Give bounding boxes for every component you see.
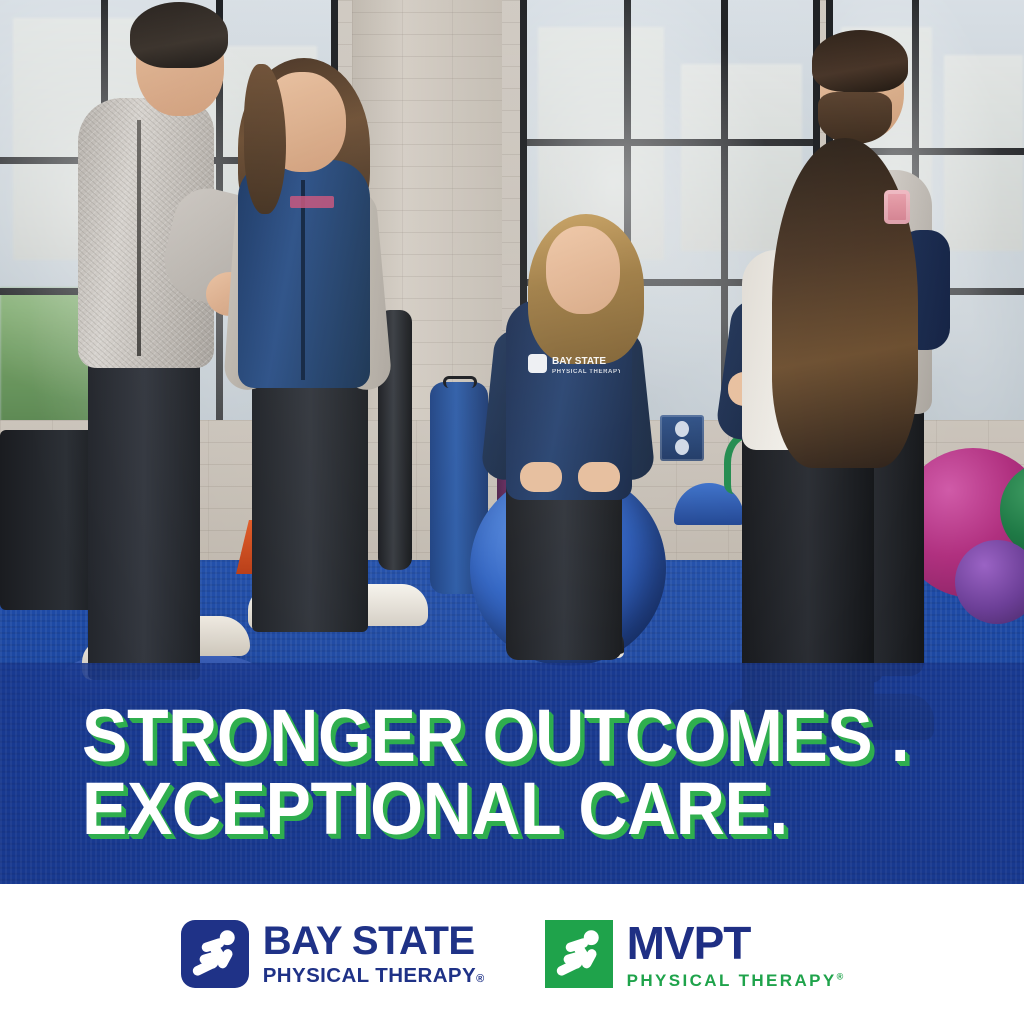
headline-line-2: EXCEPTIONAL CARE. [82, 773, 910, 844]
person-bearded-man-beard [818, 92, 892, 144]
person-woman-seated-shirt-logo: BAY STATE PHYSICAL THERAPY [528, 352, 620, 376]
person-bearded-man-hair [812, 30, 908, 92]
mvpt-name: MVPT [627, 920, 844, 966]
person-woman-dark-hair-clip [884, 190, 910, 224]
bay-state-name: BAY STATE [263, 921, 485, 961]
person-woman-dark-hair-hair [772, 138, 918, 468]
bay-state-runner-mark [181, 920, 249, 988]
runner-icon [545, 920, 613, 988]
bay-state-subtitle: PHYSICAL THERAPY® [263, 966, 485, 987]
poster-canvas: BAY STATE PHYSICAL THERAPY STRONGER OUTC… [0, 0, 1024, 1024]
bay-state-registered-mark: ® [476, 973, 485, 985]
person-woman-navy-vest-legs [252, 370, 368, 632]
person-man-gray-fleece-zipper [137, 120, 141, 356]
mvpt-logo[interactable]: MVPT PHYSICAL THERAPY® [545, 920, 844, 989]
person-woman-seated-hand [520, 462, 562, 492]
svg-text:BAY STATE: BAY STATE [552, 356, 606, 367]
mvpt-registered-mark: ® [837, 971, 844, 981]
person-woman-navy-vest-embroidery [290, 196, 334, 208]
equipment-bolster-handle [443, 376, 477, 388]
wall-outlet [660, 415, 704, 461]
mvpt-subtitle-text: PHYSICAL THERAPY [627, 971, 837, 990]
footer-logo-bar: BAY STATE PHYSICAL THERAPY® [0, 884, 1024, 1024]
headline-block: STRONGER OUTCOMES . EXCEPTIONAL CARE. [82, 700, 982, 846]
person-man-gray-fleece-legs [88, 350, 200, 680]
mvpt-logo-text: MVPT PHYSICAL THERAPY® [627, 920, 844, 989]
runner-icon [181, 920, 249, 988]
bay-state-subtitle-text: PHYSICAL THERAPY [263, 964, 476, 987]
headline-line-1: STRONGER OUTCOMES . [82, 700, 910, 771]
person-man-gray-fleece-hair [130, 2, 228, 68]
person-woman-navy-vest-zipper [301, 180, 305, 380]
mvpt-subtitle: PHYSICAL THERAPY® [627, 972, 844, 989]
bay-state-logo[interactable]: BAY STATE PHYSICAL THERAPY® [181, 920, 485, 988]
bay-state-logo-text: BAY STATE PHYSICAL THERAPY® [263, 921, 485, 987]
person-woman-seated-head [546, 226, 620, 314]
svg-text:PHYSICAL THERAPY: PHYSICAL THERAPY [552, 369, 620, 375]
person-woman-seated-hand [578, 462, 620, 492]
mvpt-runner-mark [545, 920, 613, 988]
